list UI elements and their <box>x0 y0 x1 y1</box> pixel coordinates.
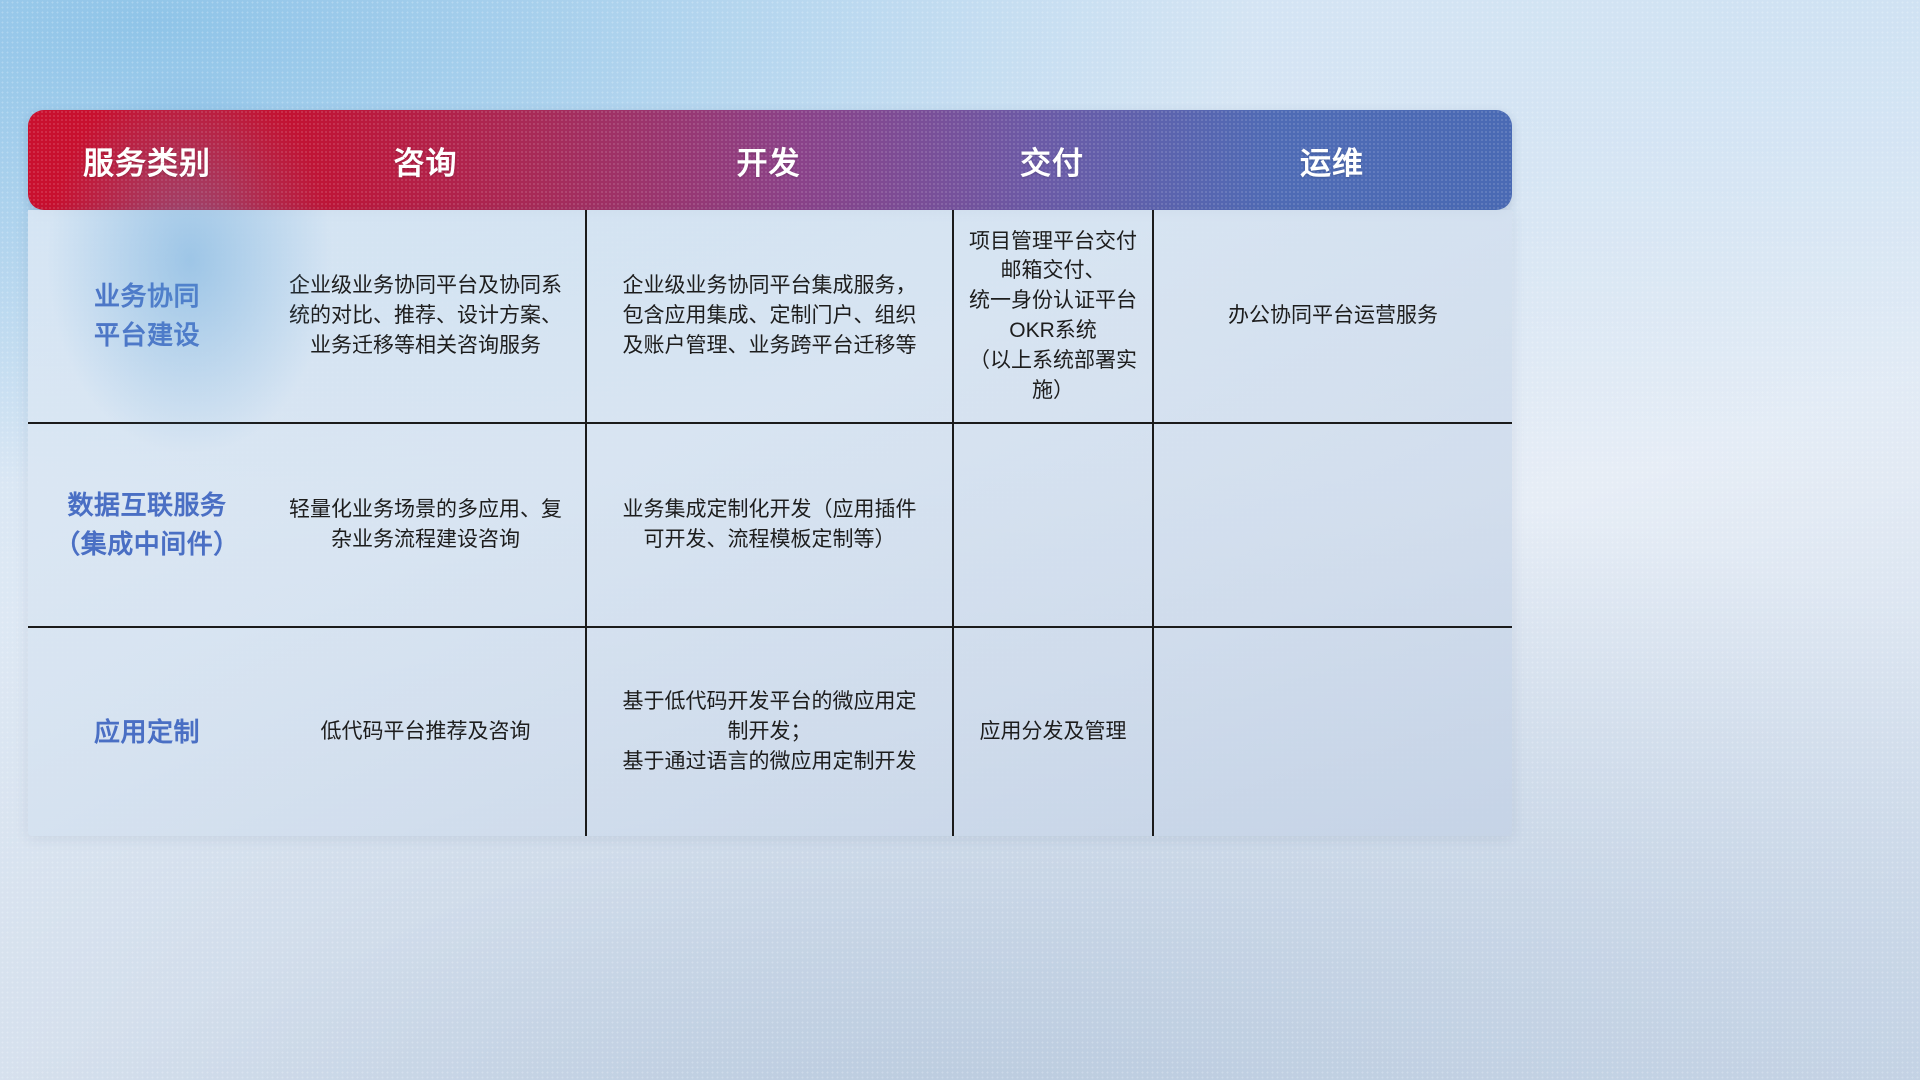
column-header-category: 服务类别 <box>28 138 266 183</box>
row-2-category: 数据互联服务 （集成中间件） <box>28 424 266 626</box>
row-2-operations <box>1152 424 1512 626</box>
row-2-delivery <box>952 424 1152 626</box>
row-3-delivery: 应用分发及管理 <box>952 628 1152 836</box>
row-3-consulting: 低代码平台推荐及咨询 <box>266 628 585 836</box>
service-matrix-table: 服务类别 咨询 开发 交付 运维 业务协同 平台建设 企业级业务协同平台及协同系… <box>28 110 1512 836</box>
table-body: 业务协同 平台建设 企业级业务协同平台及协同系 统的对比、推荐、设计方案、 业务… <box>28 210 1512 836</box>
row-1-consulting: 企业级业务协同平台及协同系 统的对比、推荐、设计方案、 业务迁移等相关咨询服务 <box>266 210 585 422</box>
row-1-delivery: 项目管理平台交付 邮箱交付、 统一身份认证平台 OKR系统 （以上系统部署实施） <box>952 210 1152 422</box>
row-1-category: 业务协同 平台建设 <box>28 210 266 422</box>
table-header-row: 服务类别 咨询 开发 交付 运维 <box>28 110 1512 210</box>
column-header-consulting: 咨询 <box>266 138 585 183</box>
column-header-operations: 运维 <box>1152 138 1512 183</box>
table-row: 应用定制 低代码平台推荐及咨询 基于低代码开发平台的微应用定 制开发； 基于通过… <box>28 626 1512 836</box>
table-row: 数据互联服务 （集成中间件） 轻量化业务场景的多应用、复 杂业务流程建设咨询 业… <box>28 422 1512 626</box>
row-3-development: 基于低代码开发平台的微应用定 制开发； 基于通过语言的微应用定制开发 <box>585 628 952 836</box>
table-row: 业务协同 平台建设 企业级业务协同平台及协同系 统的对比、推荐、设计方案、 业务… <box>28 210 1512 422</box>
column-header-delivery: 交付 <box>952 138 1152 183</box>
row-1-operations: 办公协同平台运营服务 <box>1152 210 1512 422</box>
slide-canvas: 服务类别 咨询 开发 交付 运维 业务协同 平台建设 企业级业务协同平台及协同系… <box>0 0 1920 1080</box>
row-3-operations <box>1152 628 1512 836</box>
row-2-development: 业务集成定制化开发（应用插件 可开发、流程模板定制等） <box>585 424 952 626</box>
row-2-consulting: 轻量化业务场景的多应用、复 杂业务流程建设咨询 <box>266 424 585 626</box>
row-1-development: 企业级业务协同平台集成服务， 包含应用集成、定制门户、组织 及账户管理、业务跨平… <box>585 210 952 422</box>
column-header-development: 开发 <box>585 138 952 183</box>
row-3-category: 应用定制 <box>28 628 266 836</box>
